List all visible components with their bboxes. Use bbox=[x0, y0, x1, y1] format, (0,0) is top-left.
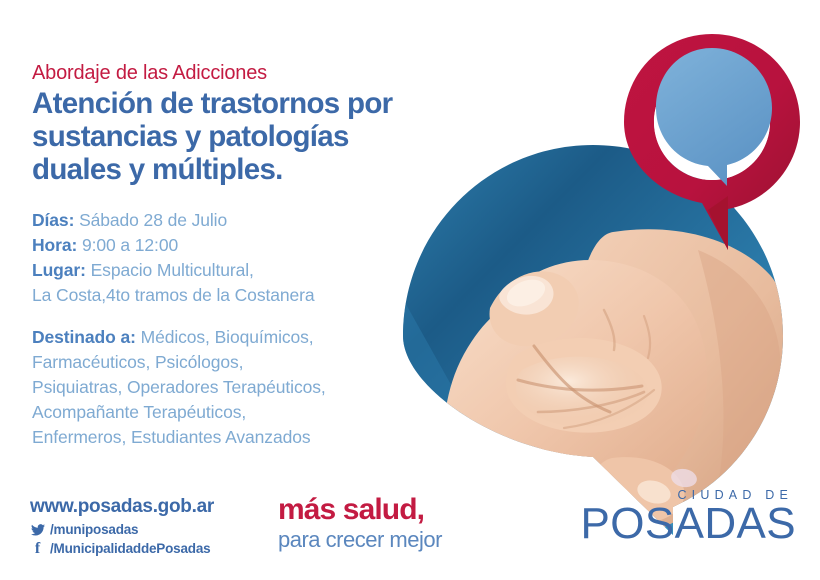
brand-lockup: CIUDAD DE POSADAS bbox=[580, 488, 796, 545]
audience-line-5: Enfermeros, Estudiantes Avanzados bbox=[32, 427, 311, 447]
audience-block: Destinado a: Médicos, Bioquímicos, Farma… bbox=[32, 325, 402, 450]
audience-line-4: Acompañante Terapéuticos, bbox=[32, 402, 246, 422]
detail-venue-second-line: La Costa,4to tramos de la Costanera bbox=[32, 283, 452, 308]
brand-word: POSADAS bbox=[580, 503, 796, 545]
event-details: Días: Sábado 28 de Julio Hora: 9:00 a 12… bbox=[32, 208, 452, 308]
slogan-block: más salud, para crecer mejor bbox=[278, 494, 442, 552]
eyebrow-text: Abordaje de las Adicciones bbox=[32, 62, 452, 85]
detail-label-lugar: Lugar: bbox=[32, 260, 86, 280]
facebook-f-icon: f bbox=[30, 541, 45, 557]
facebook-handle: /MunicipalidaddePosadas bbox=[50, 539, 210, 559]
audience-line-1: Médicos, Bioquímicos, bbox=[136, 327, 314, 347]
poster-text-column: Abordaje de las Adicciones Atención de t… bbox=[32, 62, 452, 450]
poster-canvas: Abordaje de las Adicciones Atención de t… bbox=[0, 0, 820, 580]
detail-label-hora: Hora: bbox=[32, 235, 77, 255]
twitter-row[interactable]: /muniposadas bbox=[30, 520, 214, 540]
detail-label-dias: Días: bbox=[32, 210, 74, 230]
detail-row-dias: Días: Sábado 28 de Julio bbox=[32, 208, 452, 233]
footer-contact: www.posadas.gob.ar /muniposadas f /Munic… bbox=[30, 496, 214, 559]
audience-label: Destinado a: bbox=[32, 327, 136, 347]
detail-value-lugar: Espacio Multicultural, bbox=[91, 260, 254, 280]
audience-line-3: Psiquiatras, Operadores Terapéuticos, bbox=[32, 377, 326, 397]
twitter-bird-icon bbox=[30, 524, 45, 536]
detail-value-hora: 9:00 a 12:00 bbox=[82, 235, 178, 255]
facebook-row[interactable]: f /MunicipalidaddePosadas bbox=[30, 539, 214, 559]
headline-line-2: sustancias y patologías bbox=[32, 120, 452, 153]
website-link[interactable]: www.posadas.gob.ar bbox=[30, 496, 214, 518]
detail-value-dias: Sábado 28 de Julio bbox=[79, 210, 227, 230]
headline-line-3: duales y múltiples. bbox=[32, 153, 452, 186]
page-title: Atención de trastornos por sustancias y … bbox=[32, 87, 452, 186]
slogan-line-1: más salud, bbox=[278, 494, 442, 526]
twitter-handle: /muniposadas bbox=[50, 520, 138, 540]
detail-row-lugar: Lugar: Espacio Multicultural, bbox=[32, 258, 452, 283]
audience-line-2: Farmacéuticos, Psicólogos, bbox=[32, 352, 243, 372]
slogan-line-2: para crecer mejor bbox=[278, 528, 442, 552]
headline-line-1: Atención de trastornos por bbox=[32, 87, 452, 120]
posadas-logo-pin bbox=[612, 28, 812, 268]
detail-row-hora: Hora: 9:00 a 12:00 bbox=[32, 233, 452, 258]
